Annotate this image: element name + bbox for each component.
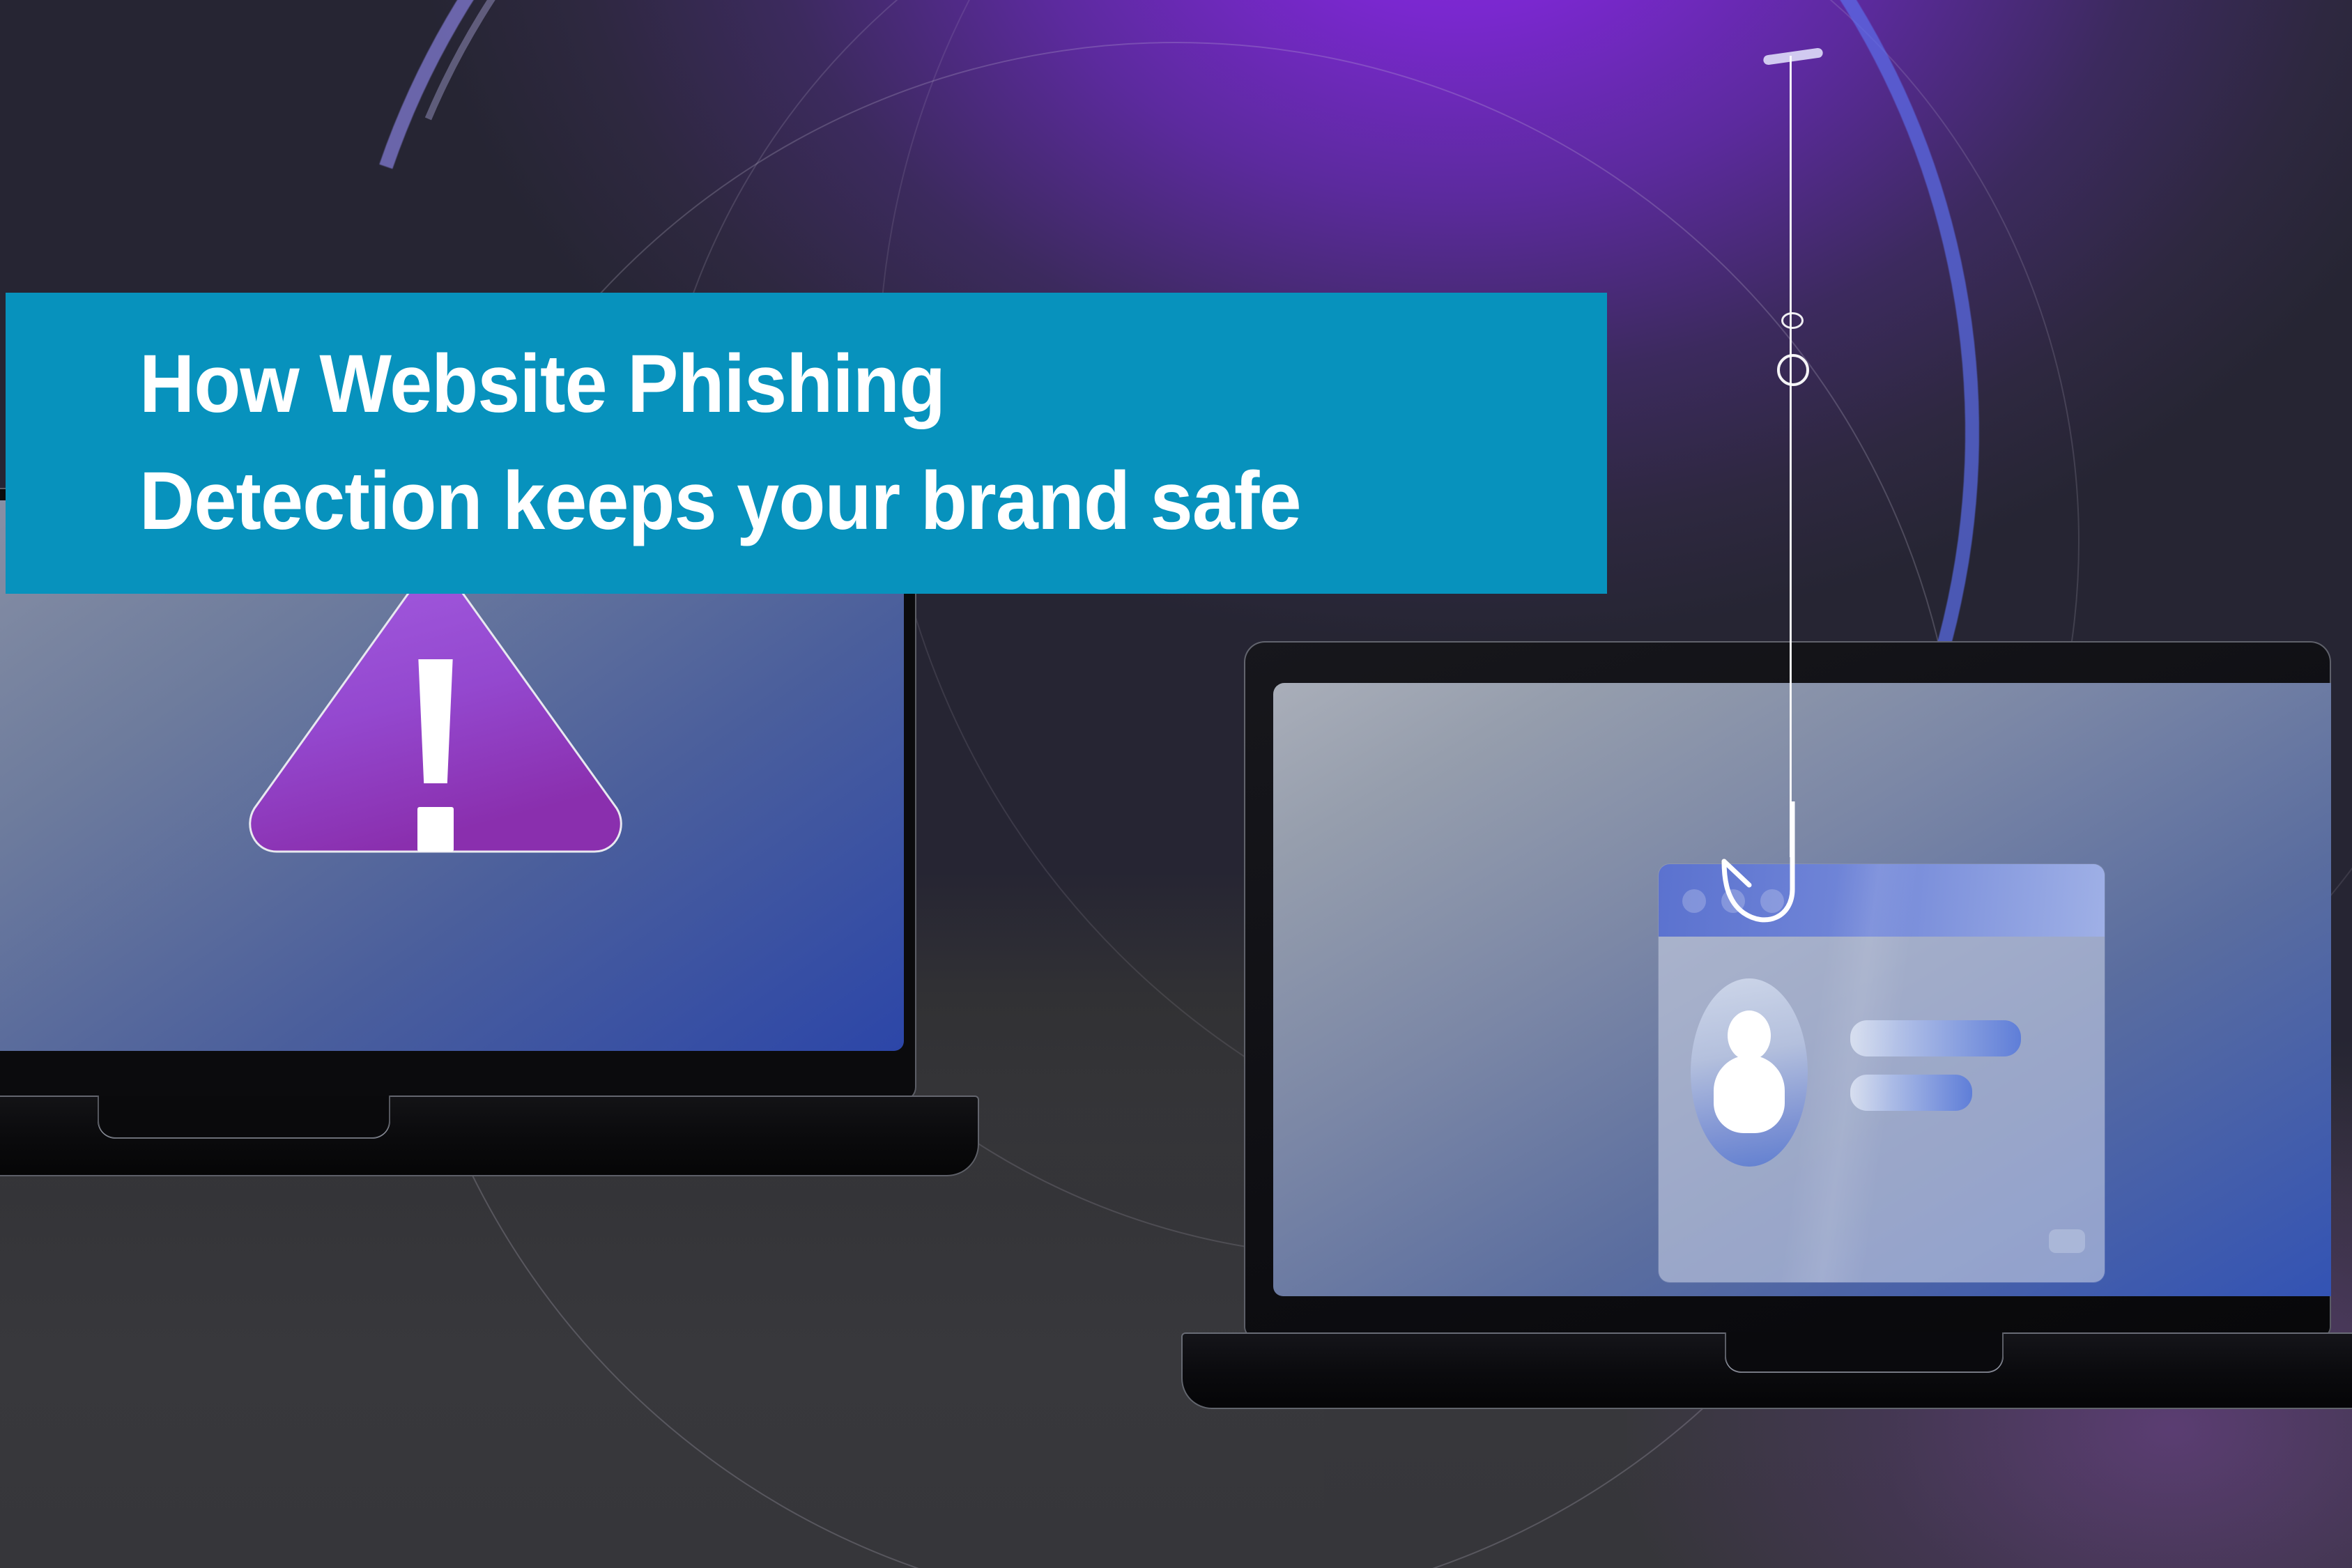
laptop-phished-notch: [1725, 1332, 2004, 1373]
laptop-warning-notch: [98, 1096, 390, 1139]
title-line-2: Detection keeps your brand safe: [139, 443, 1505, 560]
fishing-line: [1790, 56, 1792, 857]
hero-illustration: How Website Phishing Detection keeps you…: [0, 0, 2352, 1568]
title-banner: How Website Phishing Detection keeps you…: [6, 293, 1607, 594]
avatar-head-icon: [1728, 1010, 1771, 1061]
form-button-chip: [2049, 1229, 2085, 1253]
fishing-rig: [1686, 42, 1965, 962]
rod-tip: [1762, 47, 1823, 66]
avatar-body-icon: [1714, 1055, 1785, 1133]
warning-triangle-icon: [240, 564, 631, 864]
title-line-1: How Website Phishing: [139, 326, 1505, 443]
line-bead-upper: [1781, 312, 1804, 329]
line-ring-lower: [1777, 354, 1809, 386]
user-avatar: [1691, 978, 1808, 1167]
exclamation-dot: [417, 807, 454, 852]
fish-hook-icon: [1714, 801, 1840, 934]
